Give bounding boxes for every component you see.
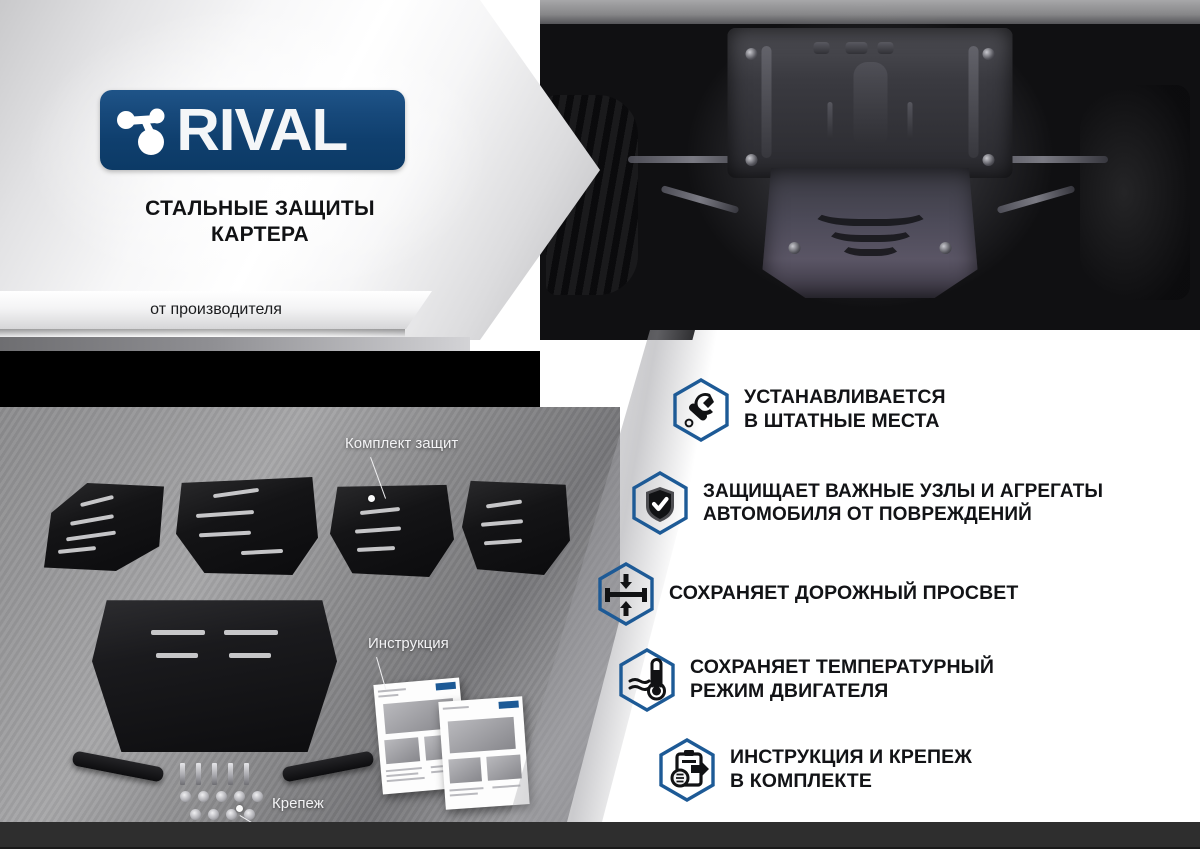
protection-plate-3 bbox=[330, 483, 454, 577]
feature-label: ЗАЩИЩАЕТ ВАЖНЫЕ УЗЛЫ И АГРЕГАТЫ АВТОМОБИ… bbox=[703, 480, 1103, 526]
feature-label: УСТАНАВЛИВАЕТСЯ В ШТАТНЫЕ МЕСТА bbox=[744, 386, 946, 434]
feature-item-manual-and-hardware: ИНСТРУКЦИЯ И КРЕПЕЖ В КОМПЛЕКТЕ bbox=[658, 738, 972, 802]
ground-clearance-icon bbox=[597, 562, 655, 626]
callout-instruction-label: Инструкция bbox=[368, 635, 449, 652]
feature-item-protects-components: ЗАЩИЩАЕТ ВАЖНЫЕ УЗЛЫ И АГРЕГАТЫ АВТОМОБИ… bbox=[631, 471, 1103, 535]
callout-kit-dot bbox=[368, 495, 375, 502]
feature-label: СОХРАНЯЕТ ДОРОЖНЫЙ ПРОСВЕТ bbox=[669, 582, 1018, 606]
shield-check-icon bbox=[631, 471, 689, 535]
protection-plate-4 bbox=[462, 479, 570, 575]
feature-item-keeps-ground-clearance: СОХРАНЯЕТ ДОРОЖНЫЙ ПРОСВЕТ bbox=[597, 562, 1018, 626]
gearbox-skid-plate bbox=[763, 168, 978, 298]
bottom-strip bbox=[0, 822, 1200, 849]
feature-item-installs-in-place: УСТАНАВЛИВАЕТСЯ В ШТАТНЫЕ МЕСТА bbox=[672, 378, 946, 442]
link-left bbox=[661, 185, 740, 214]
rival-molecule-icon bbox=[112, 101, 182, 159]
callout-fasteners-label: Крепеж bbox=[272, 795, 324, 812]
promo-banner: Преимущества RIVAL СТАЛЬНЫЕ ЗАЩИТЫ КАРТЕ… bbox=[0, 0, 1200, 849]
manufacturer-strip: от производителя bbox=[0, 291, 432, 329]
page-title-line1: СТАЛЬНЫЕ ЗАЩИТЫ bbox=[60, 196, 460, 222]
divider-band-grey bbox=[0, 337, 470, 351]
clipboard-arrow-icon bbox=[658, 738, 716, 802]
manufacturer-strip-shadow bbox=[0, 329, 405, 337]
instruction-sheet-2 bbox=[438, 696, 529, 810]
photo-top-edge bbox=[540, 0, 1200, 24]
engine-skid-plate bbox=[728, 28, 1013, 178]
feature-label: ИНСТРУКЦИЯ И КРЕПЕЖ В КОМПЛЕКТЕ bbox=[730, 746, 972, 794]
divider-band-black bbox=[0, 351, 540, 407]
page-title-line2: КАРТЕРА bbox=[60, 222, 460, 248]
protection-plate-2 bbox=[176, 477, 318, 575]
callout-fasteners-dot bbox=[236, 805, 243, 812]
callout-kit-label: Комплект защит bbox=[345, 435, 458, 452]
product-kit-photo: Комплект защит Инструкция Крепеж bbox=[0, 407, 620, 849]
wrench-icon bbox=[672, 378, 730, 442]
wheel-right bbox=[1080, 85, 1190, 300]
feature-label: СОХРАНЯЕТ ТЕМПЕРАТУРНЫЙ РЕЖИМ ДВИГАТЕЛЯ bbox=[690, 656, 994, 704]
page-title: СТАЛЬНЫЕ ЗАЩИТЫ КАРТЕРА bbox=[60, 196, 460, 249]
rival-wordmark: RIVAL bbox=[176, 101, 347, 160]
main-skid-plate bbox=[92, 587, 337, 752]
manufacturer-label: от производителя bbox=[150, 301, 282, 319]
car-undercarriage-photo: Преимущества bbox=[540, 0, 1200, 340]
thermometer-icon bbox=[618, 648, 676, 712]
rival-logo: RIVAL bbox=[100, 90, 405, 170]
brand-panel bbox=[0, 0, 600, 340]
feature-item-keeps-engine-temperature: СОХРАНЯЕТ ТЕМПЕРАТУРНЫЙ РЕЖИМ ДВИГАТЕЛЯ bbox=[618, 648, 994, 712]
link-right bbox=[997, 185, 1076, 214]
